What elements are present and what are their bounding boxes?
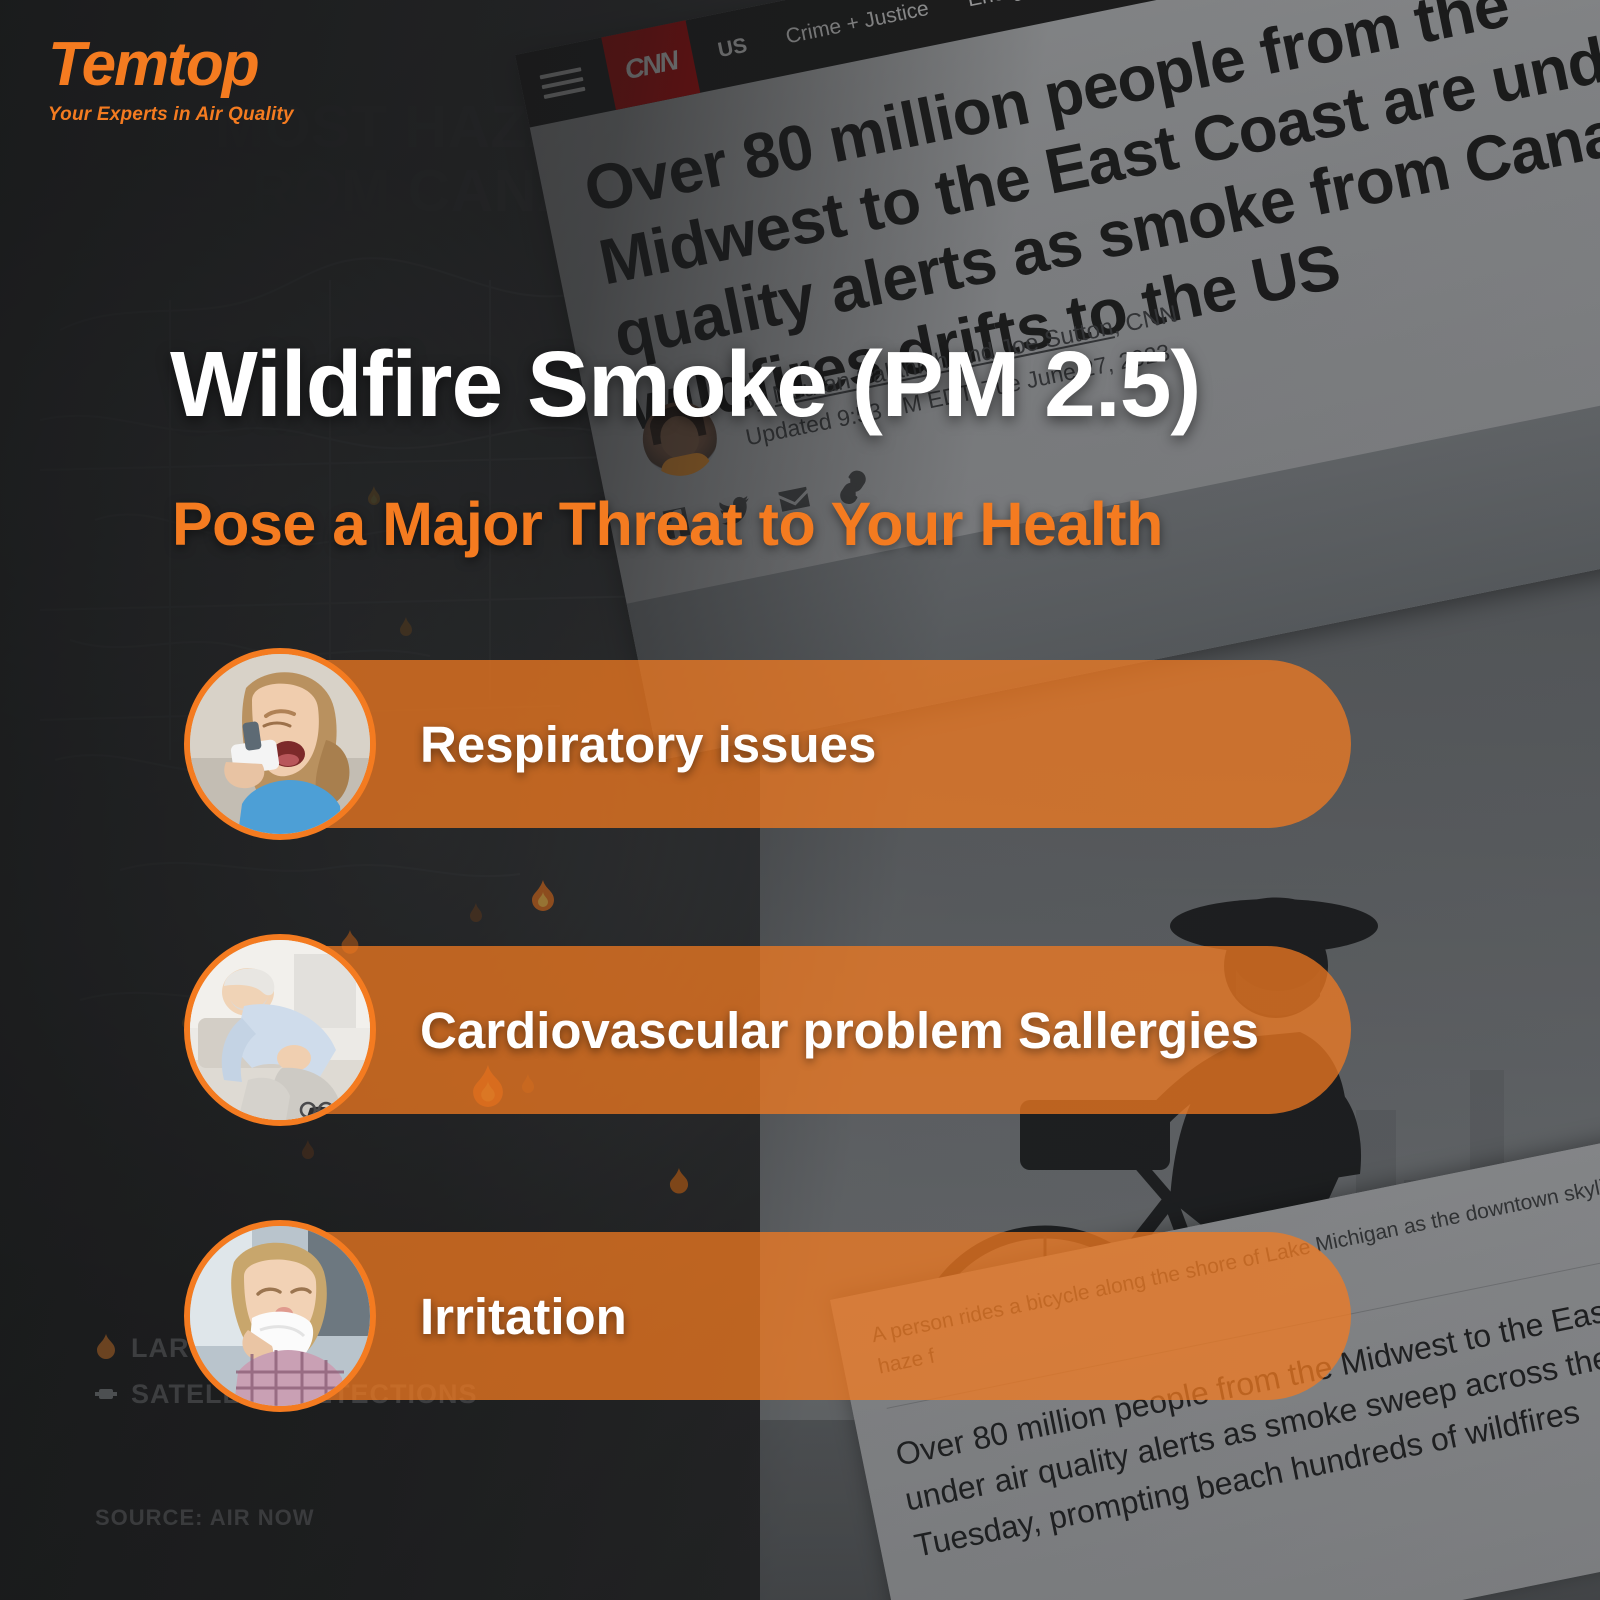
infographic-canvas: MOST HAZARDOUS AIR QUALITY FROM CANADIAN… [0,0,1600,1600]
temtop-logo: Temtop Your Experts in Air Quality [48,34,294,126]
effect-label: Respiratory issues [420,715,876,774]
map-source-label: SOURCE: AIR NOW [95,1505,315,1531]
effect-label: Irritation [420,1287,627,1346]
brand-name: Temtop [48,34,294,96]
effect-item-respiratory: Respiratory issues [196,660,1351,828]
brand-tagline: Your Experts in Air Quality [48,104,294,126]
child-blowing-nose-photo [184,1220,376,1412]
flame-icon [95,1334,117,1362]
flame-icon [530,880,556,914]
page-subtitle: Pose a Major Threat to Your Health [172,494,1472,555]
page-title: Wildfire Smoke (PM 2.5) [170,338,1430,431]
satellite-icon [95,1381,117,1409]
effect-item-irritation: Irritation [196,1232,1351,1400]
elderly-man-chest-pain-photo [184,934,376,1126]
effect-label: Cardiovascular problem Sallergies [420,1001,1259,1060]
child-using-inhaler-photo [184,648,376,840]
effect-item-cardiovascular: Cardiovascular problem Sallergies [196,946,1351,1114]
flame-icon [668,1168,690,1196]
